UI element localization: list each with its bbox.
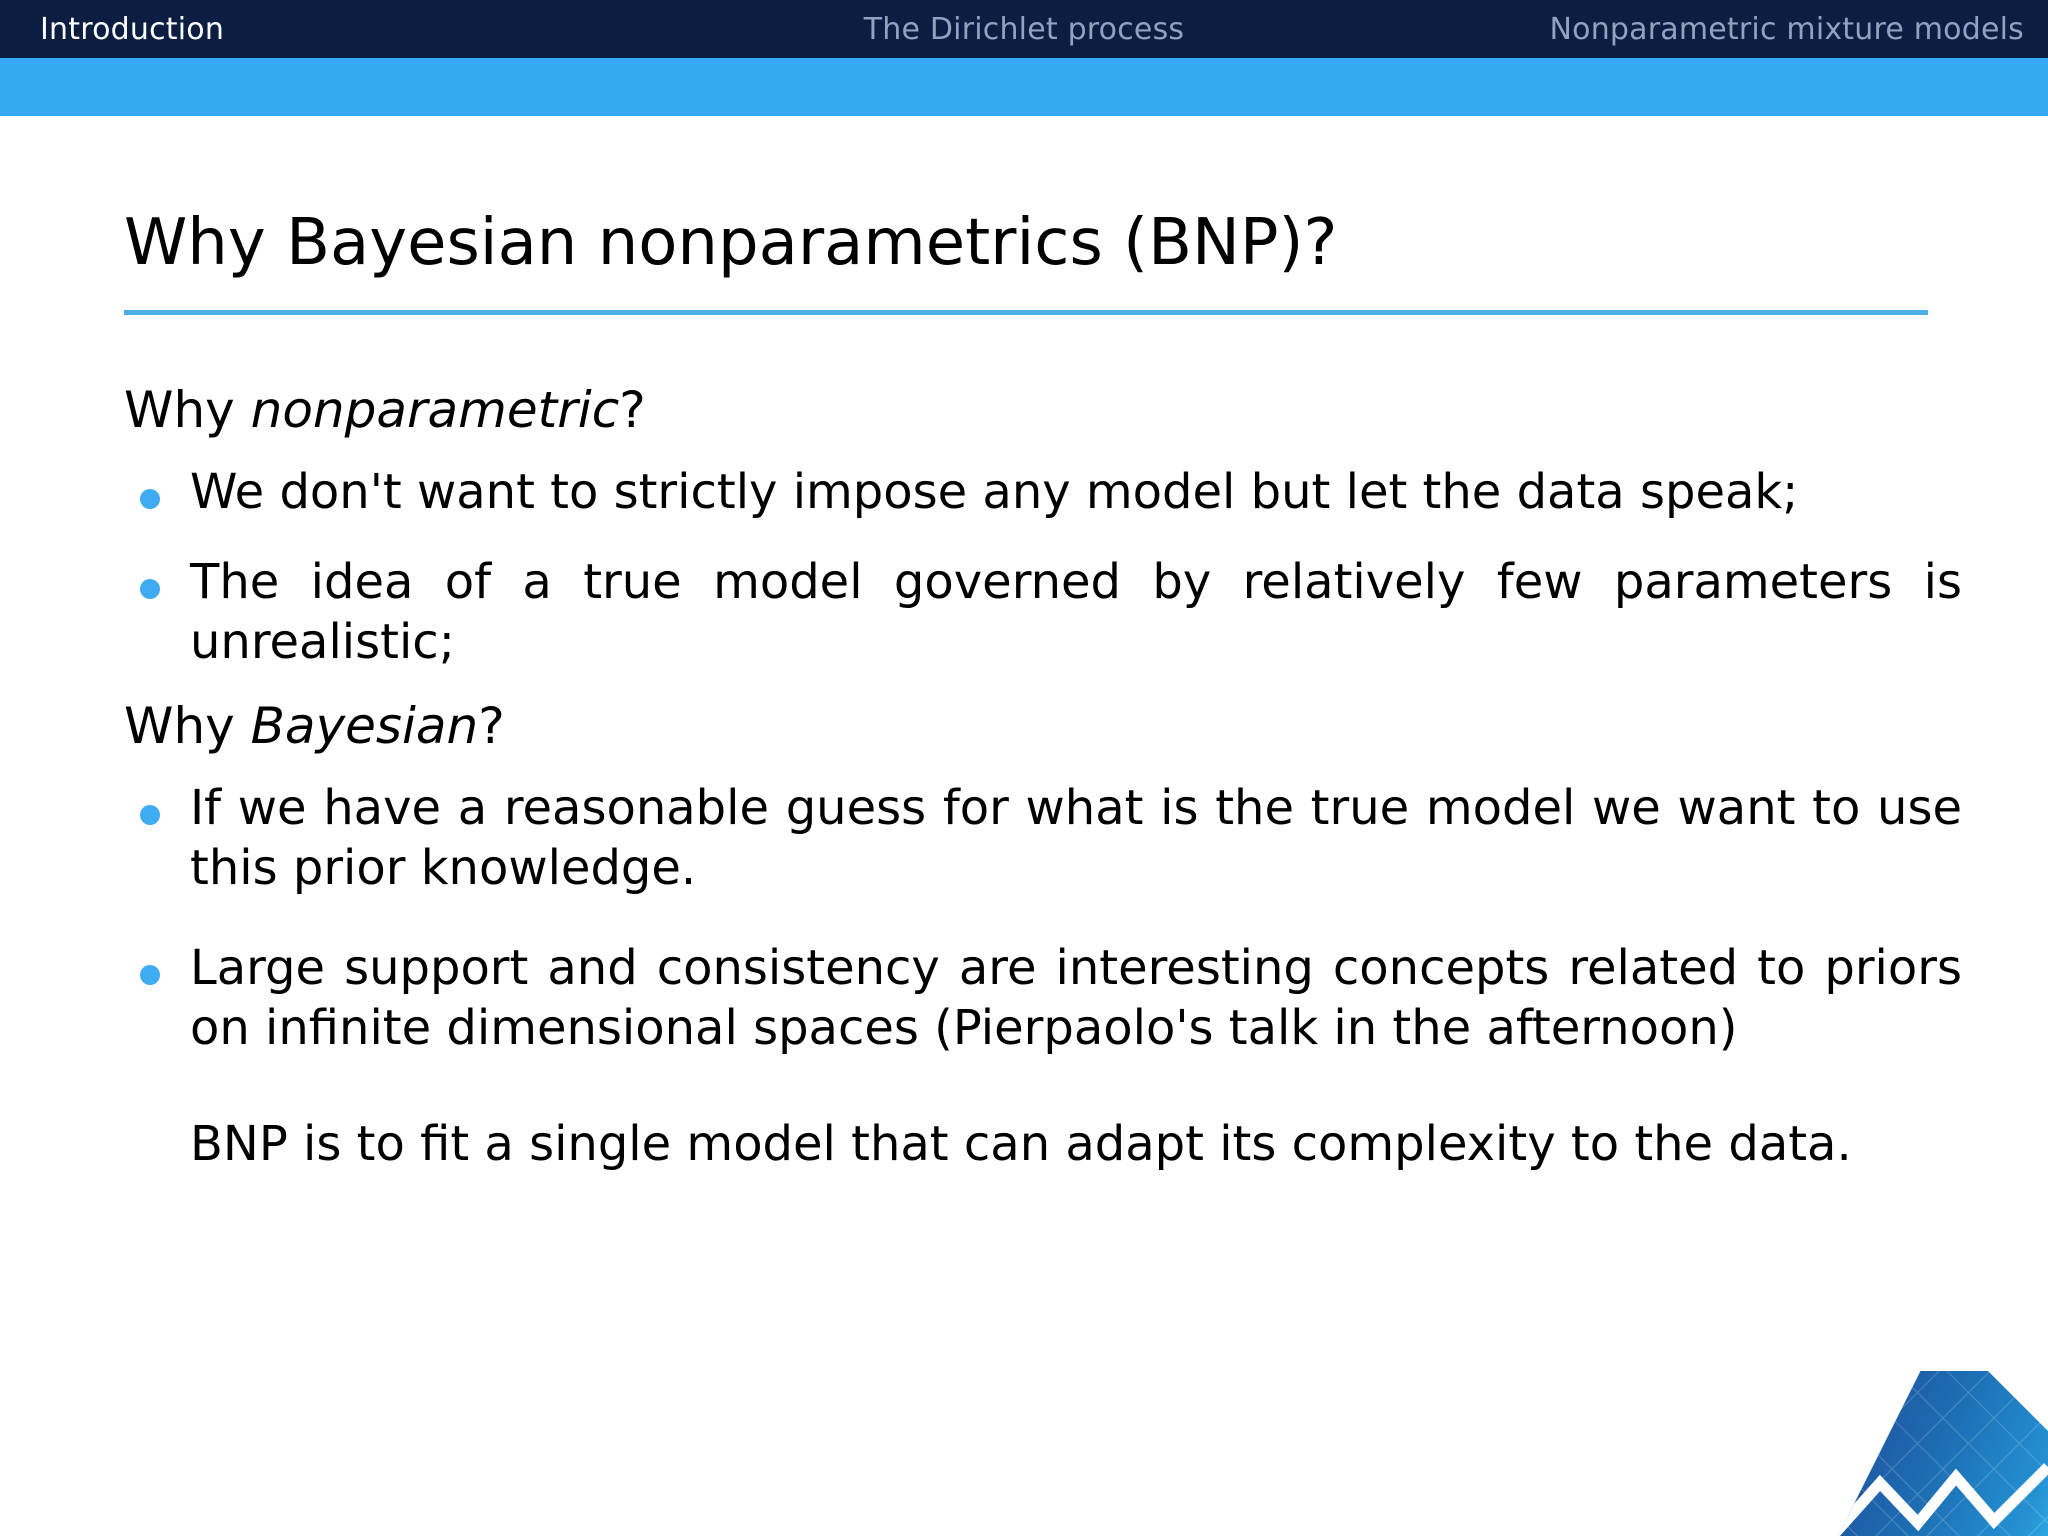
list-item: We don't want to strictly impose any mod… xyxy=(140,462,1962,522)
section-heading-prefix: Why xyxy=(124,697,251,755)
list-item: If we have a reasonable guess for what i… xyxy=(140,778,1962,898)
list-item-label: We don't want to strictly impose any mod… xyxy=(190,462,1962,522)
nav-section-nonparametric-mixture-models[interactable]: Nonparametric mixture models xyxy=(1550,12,2025,47)
nav-section-dirichlet-process[interactable]: The Dirichlet process xyxy=(864,12,1185,47)
bullet-dot-icon xyxy=(140,579,160,599)
list-item-label: The idea of a true model governed by rel… xyxy=(190,552,1962,672)
slide-body: Why nonparametric? We don't want to stri… xyxy=(0,382,2048,1174)
section-heading-suffix: ? xyxy=(478,697,505,755)
bullet-dot-icon xyxy=(140,805,160,825)
list-item: The idea of a true model governed by rel… xyxy=(140,552,1962,672)
list-item-label: If we have a reasonable guess for what i… xyxy=(190,778,1962,898)
section-heading-emphasis: Bayesian xyxy=(251,697,479,755)
mountain-diamond-logo xyxy=(1838,1371,2048,1536)
header-accent-bar xyxy=(0,58,2048,116)
bullet-list-bayesian: If we have a reasonable guess for what i… xyxy=(0,778,2048,1058)
page-title: Why Bayesian nonparametrics (BNP)? xyxy=(124,208,1337,278)
closing-paragraph: BNP is to fit a single model that can ad… xyxy=(190,1114,1962,1174)
list-item: Large support and consistency are intere… xyxy=(140,938,1962,1058)
nav-section-introduction[interactable]: Introduction xyxy=(40,12,224,47)
section-heading-emphasis: nonparametric xyxy=(251,381,620,439)
section-heading-bayesian: Why Bayesian? xyxy=(124,698,2048,754)
bullet-dot-icon xyxy=(140,489,160,509)
section-heading-suffix: ? xyxy=(619,381,646,439)
section-heading-prefix: Why xyxy=(124,381,251,439)
section-heading-nonparametric: Why nonparametric? xyxy=(124,382,2048,438)
title-underline-rule xyxy=(124,310,1928,315)
list-item-label: Large support and consistency are intere… xyxy=(190,938,1962,1058)
bullet-dot-icon xyxy=(140,965,160,985)
bullet-list-nonparametric: We don't want to strictly impose any mod… xyxy=(0,462,2048,672)
navigation-header: Introduction The Dirichlet process Nonpa… xyxy=(0,0,2048,58)
